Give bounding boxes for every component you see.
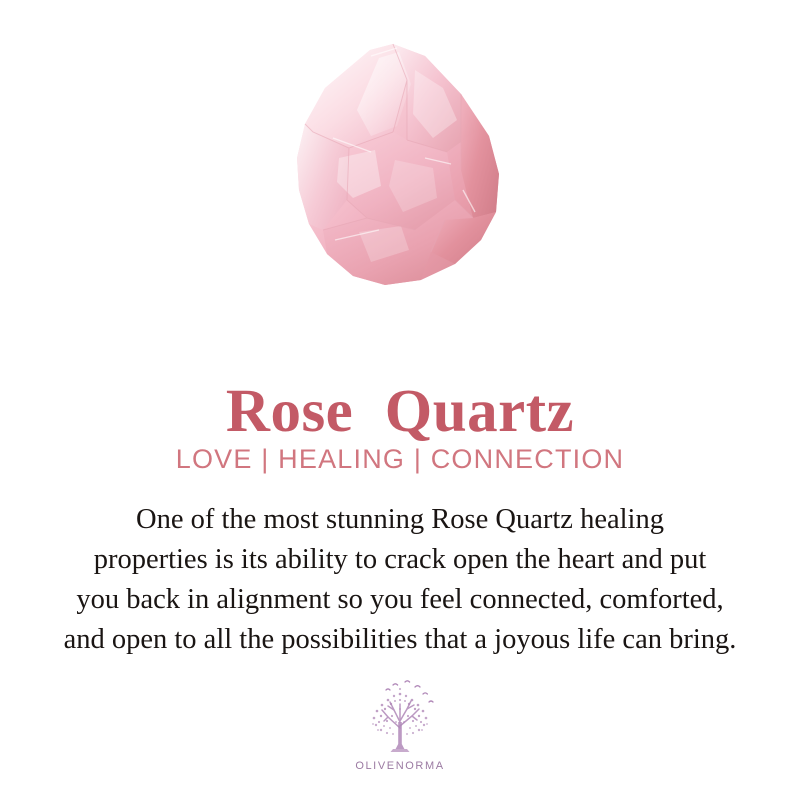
- brand-name-label: OLIVENORMA: [355, 760, 444, 772]
- crystal-image-container: [0, 40, 800, 305]
- description-paragraph: One of the most stunning Rose Quartz hea…: [22, 500, 778, 660]
- description-line: and open to all the possibilities that a…: [22, 620, 778, 660]
- rose-quartz-crystal-image: [275, 40, 525, 295]
- brand-logo: OLIVENORMA: [0, 676, 800, 772]
- birds-icon: [386, 681, 433, 702]
- page-title: Rose Quartz: [0, 377, 800, 447]
- keyword-subtitle: LOVE | HEALING | CONNECTION: [0, 442, 800, 476]
- description-line: you back in alignment so you feel connec…: [22, 580, 778, 620]
- description-line: One of the most stunning Rose Quartz hea…: [22, 500, 778, 540]
- tree-of-life-icon: [357, 676, 443, 758]
- rose-quartz-info-card: Rose Quartz LOVE | HEALING | CONNECTION …: [0, 0, 800, 800]
- description-line: properties is its ability to crack open …: [22, 540, 778, 580]
